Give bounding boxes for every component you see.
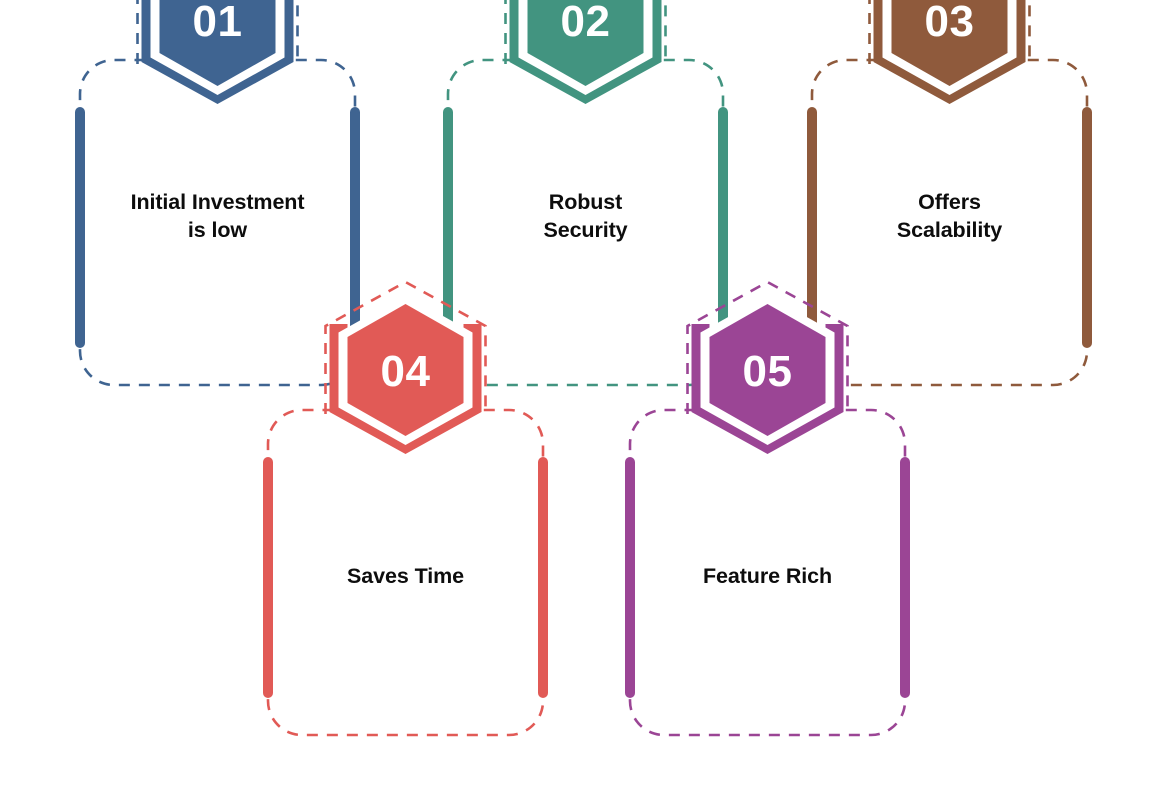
infographic-canvas: 01Initial Investment is low02Robust Secu…: [0, 0, 1165, 800]
card-graphics: 04: [248, 292, 563, 755]
benefit-card-05[interactable]: 05Feature Rich: [630, 410, 905, 735]
badge-number: 04: [381, 347, 431, 396]
badge-number: 03: [925, 0, 975, 46]
badge-number: 02: [561, 0, 611, 46]
badge-number: 01: [193, 0, 243, 46]
card-graphics: 05: [610, 292, 925, 755]
card-dashed-border: [268, 410, 543, 735]
badge-number: 05: [743, 347, 793, 396]
benefit-card-04[interactable]: 04Saves Time: [268, 410, 543, 735]
card-dashed-border: [630, 410, 905, 735]
